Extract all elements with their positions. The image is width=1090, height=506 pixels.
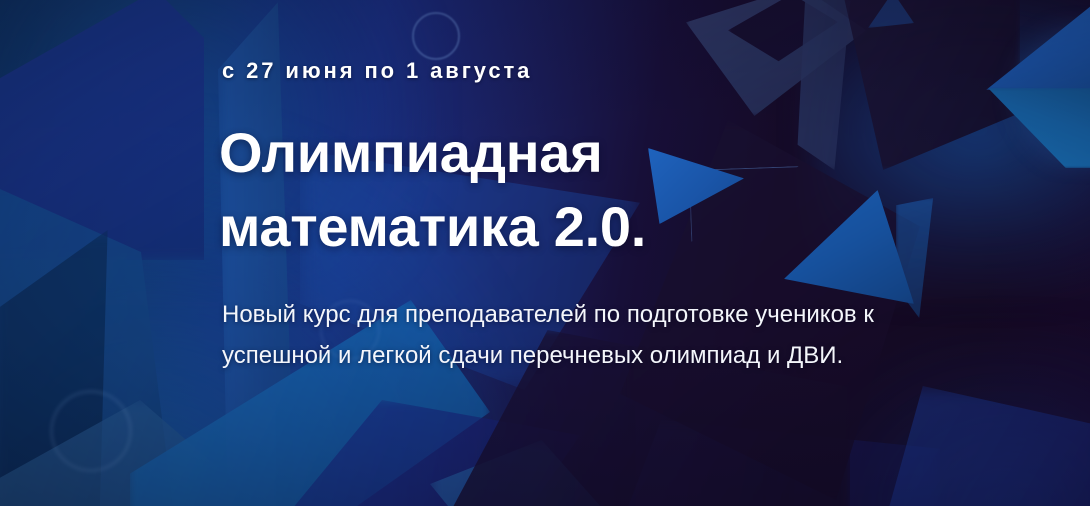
- hero-banner: с 27 июня по 1 августа Олимпиадная матем…: [0, 0, 1090, 506]
- hero-content: с 27 июня по 1 августа Олимпиадная матем…: [222, 0, 982, 506]
- hero-subtitle: Новый курс для преподавателей по подгото…: [222, 294, 922, 377]
- hero-date-range: с 27 июня по 1 августа: [222, 58, 532, 84]
- page-title: Олимпиадная математика 2.0.: [219, 116, 739, 265]
